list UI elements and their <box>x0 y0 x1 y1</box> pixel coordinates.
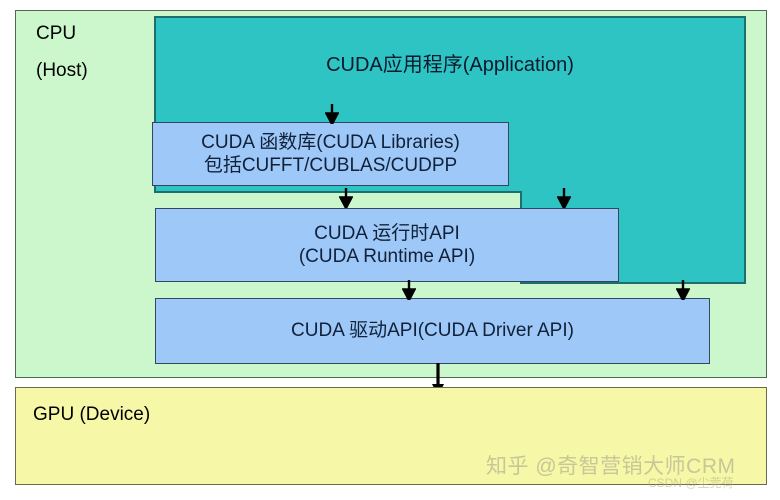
arrow-runtime-to-driver-icon <box>402 280 416 300</box>
cuda-libraries-block[interactable]: CUDA 函数库(CUDA Libraries) 包括CUFFT/CUBLAS/… <box>152 122 509 186</box>
cuda-libraries-line2: 包括CUFFT/CUBLAS/CUDPP <box>204 154 457 177</box>
cuda-runtime-api-line2: (CUDA Runtime API) <box>299 245 475 268</box>
host-label-line1: CPU <box>36 23 76 44</box>
device-label: GPU (Device) <box>33 404 150 426</box>
diagram-canvas: CPU (Host) CUDA应用程序(Application) CUDA 函数… <box>0 0 780 500</box>
cuda-runtime-api-block[interactable]: CUDA 运行时API (CUDA Runtime API) <box>155 208 619 282</box>
cuda-libraries-line1: CUDA 函数库(CUDA Libraries) <box>201 131 460 154</box>
arrow-application-to-driver-icon <box>676 280 690 300</box>
arrow-application-to-libraries-icon <box>325 104 339 124</box>
device-container <box>15 387 767 485</box>
arrow-libraries-to-runtime-icon <box>339 188 353 208</box>
cuda-driver-api-line1: CUDA 驱动API(CUDA Driver API) <box>291 319 574 342</box>
host-label-line2: (Host) <box>36 61 88 80</box>
arrow-application-to-runtime-icon <box>557 188 571 208</box>
cuda-driver-api-block[interactable]: CUDA 驱动API(CUDA Driver API) <box>155 298 710 364</box>
host-label: CPU (Host) <box>36 24 88 80</box>
cuda-runtime-api-line1: CUDA 运行时API <box>314 222 460 245</box>
